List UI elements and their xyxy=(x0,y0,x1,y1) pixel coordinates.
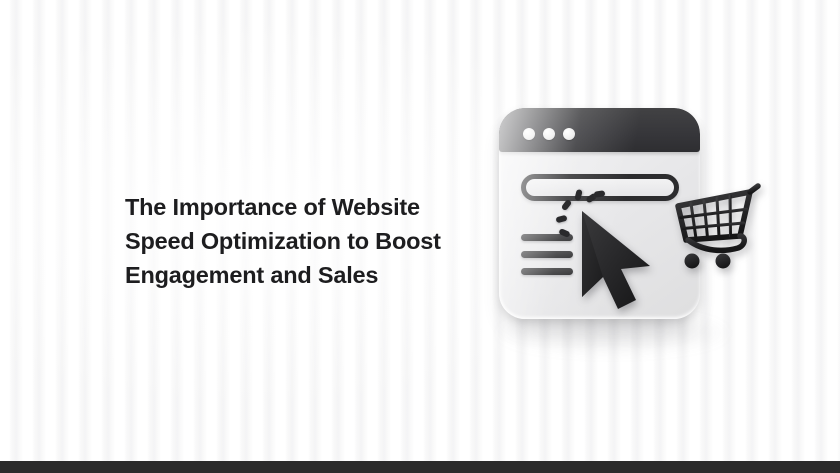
illustration-ground-shadow xyxy=(498,313,728,353)
slide-canvas: The Importance of Website Speed Optimiza… xyxy=(0,0,840,473)
window-dot-2-icon xyxy=(543,128,555,140)
content-line-3 xyxy=(521,268,573,275)
window-dot-1-icon xyxy=(523,128,535,140)
bottom-accent-bar xyxy=(0,461,840,473)
burst-ray xyxy=(594,190,606,197)
cursor-arrow-icon xyxy=(578,209,664,317)
burst-ray xyxy=(561,199,573,211)
cart-wheel-left xyxy=(685,254,700,269)
hero-illustration xyxy=(470,85,780,365)
burst-ray xyxy=(574,189,582,201)
page-title: The Importance of Website Speed Optimiza… xyxy=(125,190,495,292)
browser-titlebar xyxy=(499,108,700,152)
cart-wheel-right xyxy=(716,254,731,269)
burst-ray xyxy=(555,215,567,223)
window-dot-3-icon xyxy=(563,128,575,140)
burst-ray xyxy=(558,228,570,238)
content-line-2 xyxy=(521,251,573,258)
shopping-cart-icon xyxy=(666,178,762,274)
